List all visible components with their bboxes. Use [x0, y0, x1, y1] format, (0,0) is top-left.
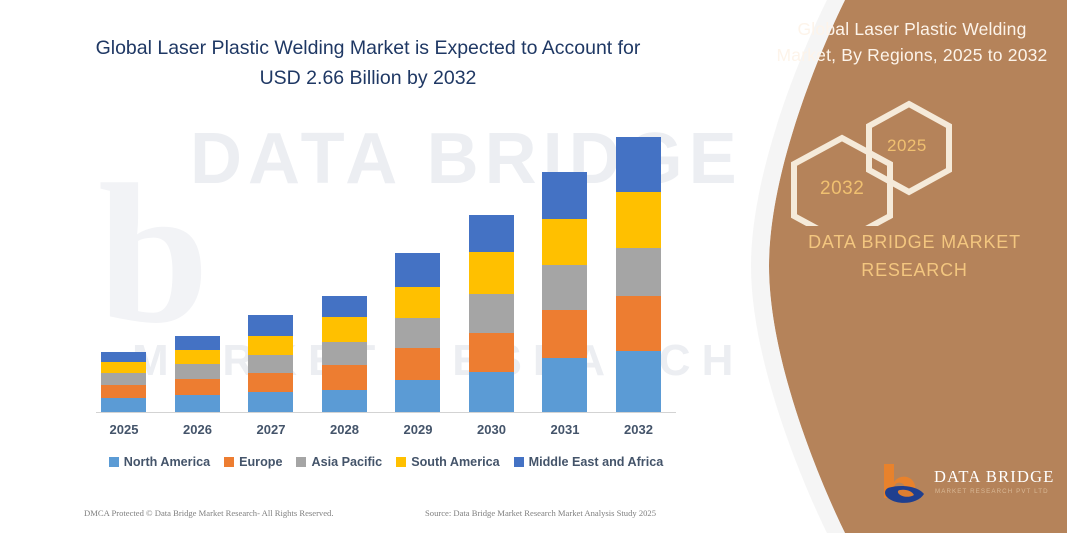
panel-brand-text: DATA BRIDGE MARKET RESEARCH [777, 228, 1052, 284]
bar-segment[interactable] [616, 296, 661, 351]
bar-segment[interactable] [175, 336, 220, 350]
bar-segment[interactable] [395, 318, 440, 348]
bar-segment[interactable] [542, 310, 587, 358]
footer-copyright: DMCA Protected © Data Bridge Market Rese… [84, 508, 334, 518]
legend-label: Asia Pacific [311, 455, 382, 469]
legend-item[interactable]: Asia Pacific [296, 455, 382, 469]
legend-label: Middle East and Africa [529, 455, 664, 469]
legend-swatch [514, 457, 524, 467]
bar-segment[interactable] [616, 351, 661, 412]
bar-segment[interactable] [322, 342, 367, 365]
category-axis-label: 2028 [313, 422, 377, 437]
panel-heading: Global Laser Plastic Welding Market, By … [772, 16, 1052, 68]
bar-segment[interactable] [101, 398, 146, 412]
bar-segment[interactable] [322, 365, 367, 390]
legend-swatch [224, 457, 234, 467]
bar-stack[interactable] [469, 215, 514, 412]
bar-segment[interactable] [175, 395, 220, 412]
bar-segment[interactable] [101, 352, 146, 362]
bar-segment[interactable] [101, 385, 146, 398]
legend-item[interactable]: Middle East and Africa [514, 455, 664, 469]
legend-swatch [109, 457, 119, 467]
bar-segment[interactable] [175, 379, 220, 395]
bar-segment[interactable] [395, 348, 440, 380]
bar-segment[interactable] [248, 373, 293, 392]
bar-stack[interactable] [175, 336, 220, 412]
bar-segment[interactable] [542, 172, 587, 219]
bar-stack[interactable] [248, 315, 293, 412]
category-axis-label: 2025 [92, 422, 156, 437]
category-axis-label: 2027 [239, 422, 303, 437]
bar-stack[interactable] [101, 352, 146, 412]
data-bridge-logo-mark [878, 462, 930, 508]
legend-item[interactable]: North America [109, 455, 210, 469]
category-axis-label: 2031 [533, 422, 597, 437]
hexagon-label-start: 2025 [887, 136, 927, 156]
bar-stack[interactable] [616, 137, 661, 412]
category-axis-label: 2030 [460, 422, 524, 437]
bar-stack[interactable] [395, 253, 440, 412]
bar-segment[interactable] [469, 333, 514, 372]
bar-segment[interactable] [248, 355, 293, 373]
right-panel: Global Laser Plastic Welding Market, By … [677, 0, 1067, 533]
legend-item[interactable]: Europe [224, 455, 282, 469]
data-bridge-logo[interactable]: DATA BRIDGE MARKET RESEARCH PVT LTD [878, 462, 1058, 510]
bar-segment[interactable] [395, 253, 440, 287]
bar-segment[interactable] [616, 137, 661, 192]
hexagon-label-end: 2032 [820, 178, 864, 200]
bar-segment[interactable] [542, 265, 587, 310]
panel-heading-line-1: Global Laser Plastic Welding [772, 16, 1052, 42]
bar-segment[interactable] [248, 315, 293, 336]
bar-segment[interactable] [175, 364, 220, 379]
bar-segment[interactable] [395, 380, 440, 412]
bar-segment[interactable] [469, 252, 514, 294]
chart-plot-area: 20252026202720282029203020312032 [0, 0, 740, 533]
legend-label: North America [124, 455, 210, 469]
bar-segment[interactable] [469, 294, 514, 333]
bar-segment[interactable] [469, 372, 514, 412]
legend-swatch [396, 457, 406, 467]
bar-segment[interactable] [469, 215, 514, 252]
logo-wordmark: DATA BRIDGE [934, 467, 1055, 487]
hexagon-badges: 2025 2032 [787, 96, 1037, 226]
bar-segment[interactable] [542, 358, 587, 412]
bar-stack[interactable] [322, 296, 367, 412]
bar-segment[interactable] [175, 350, 220, 364]
category-axis-label: 2026 [166, 422, 230, 437]
bar-stack[interactable] [542, 172, 587, 412]
logo-tagline: MARKET RESEARCH PVT LTD [935, 488, 1049, 495]
legend-label: South America [411, 455, 499, 469]
legend-label: Europe [239, 455, 282, 469]
category-axis-label: 2029 [386, 422, 450, 437]
panel-heading-line-2: Market, By Regions, 2025 to 2032 [772, 42, 1052, 68]
bar-segment[interactable] [616, 192, 661, 248]
bar-segment[interactable] [616, 248, 661, 296]
category-axis-label: 2032 [607, 422, 671, 437]
bar-segment[interactable] [542, 219, 587, 265]
bar-segment[interactable] [322, 296, 367, 317]
bar-segment[interactable] [248, 392, 293, 412]
chart-legend: North AmericaEuropeAsia PacificSouth Ame… [96, 455, 676, 469]
infographic-canvas: b DATA BRIDGE MARKET RESEARCH Global Las… [0, 0, 1067, 533]
bar-segment[interactable] [322, 390, 367, 412]
panel-brand-line-2: RESEARCH [777, 256, 1052, 284]
bar-segment[interactable] [395, 287, 440, 318]
legend-item[interactable]: South America [396, 455, 499, 469]
hexagon-outlines [787, 96, 1037, 226]
bar-segment[interactable] [322, 317, 367, 342]
footer-source: Source: Data Bridge Market Research Mark… [425, 508, 656, 518]
bar-segment[interactable] [101, 362, 146, 373]
category-axis-line [96, 412, 676, 413]
panel-brand-line-1: DATA BRIDGE MARKET [777, 228, 1052, 256]
bar-segment[interactable] [248, 336, 293, 355]
legend-swatch [296, 457, 306, 467]
bar-segment[interactable] [101, 373, 146, 385]
